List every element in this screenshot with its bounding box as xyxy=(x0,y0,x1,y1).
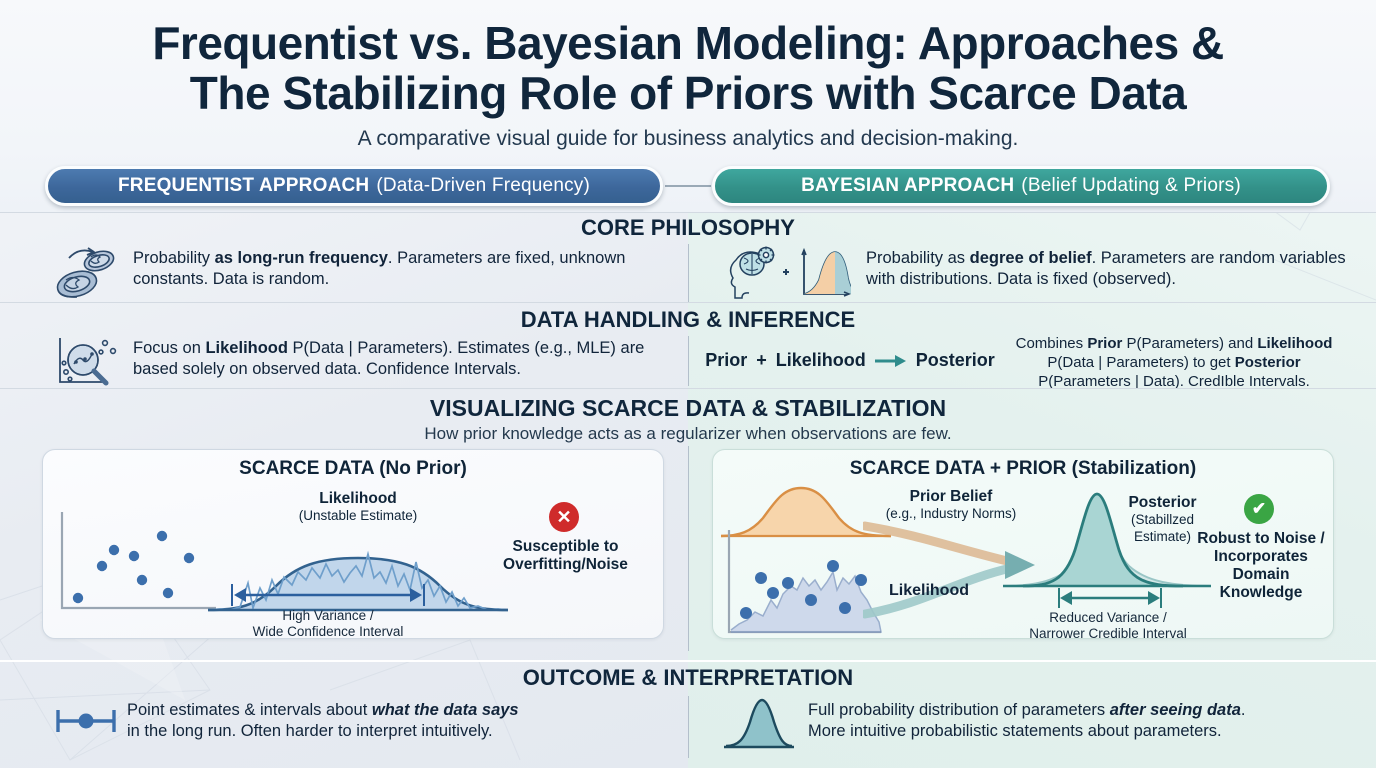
oc-r1-c: . xyxy=(1241,701,1246,719)
coins-flip-icon xyxy=(50,244,126,304)
core-philosophy-left-text: Probability as long-run frequency. Param… xyxy=(133,248,678,290)
bayes-formula: Prior + Likelihood Posterior xyxy=(700,350,1000,371)
section-data-handling: DATA HANDLING & INFERENCE xyxy=(0,304,1376,388)
formula-posterior: Posterior xyxy=(916,350,995,371)
error-cross-icon: ✕ xyxy=(549,502,579,532)
page-title-line-2: The Stabilizing Role of Priors with Scar… xyxy=(0,68,1376,118)
scarce-data-no-prior-card: SCARCE DATA (No Prior) Likelihood (Unsta… xyxy=(42,449,664,639)
magnifier-scatter-icon xyxy=(52,334,124,394)
core-philosophy-right-text: Probability as degree of belief. Paramet… xyxy=(866,248,1366,290)
dh-r1-a: Combines xyxy=(1016,335,1088,352)
dh-left-part-2: Likelihood xyxy=(205,339,288,357)
brain-plus-distribution-icon xyxy=(726,244,851,302)
right-likelihood-label: Likelihood xyxy=(889,582,969,600)
scarce-scatter-left-chart xyxy=(56,508,226,618)
pill-connector-line xyxy=(665,185,711,187)
outcome-column-divider xyxy=(688,696,689,758)
approach-pill-row: FREQUENTIST APPROACH (Data-Driven Freque… xyxy=(0,166,1376,206)
bayesian-pill-qualifier: (Belief Updating & Priors) xyxy=(1021,175,1241,197)
oc-l1-b: what the data says xyxy=(372,701,519,719)
confidence-interval-icon xyxy=(50,704,122,738)
page-subtitle: A comparative visual guide for business … xyxy=(0,127,1376,151)
page-title-line-1: Frequentist vs. Bayesian Modeling: Appro… xyxy=(152,17,1223,69)
section-outcome: OUTCOME & INTERPRETATION Point estimates… xyxy=(0,660,1376,768)
cp-right-part-2: degree of belief xyxy=(970,249,1092,267)
posterior-label: Posterior xyxy=(1128,494,1196,511)
outcome-right-line-2: More intuitive probabilistic statements … xyxy=(808,721,1368,742)
prior-belief-label: Prior Belief xyxy=(910,488,993,505)
page-header: Frequentist vs. Bayesian Modeling: Appro… xyxy=(0,0,1376,151)
outcome-heading: OUTCOME & INTERPRETATION xyxy=(0,660,1376,690)
data-handling-right-text: Combines Prior P(Parameters) and Likelih… xyxy=(988,334,1360,391)
dh-r1-b: Prior xyxy=(1087,335,1122,352)
left-card-title: SCARCE DATA (No Prior) xyxy=(43,458,663,480)
success-check-icon: ✔ xyxy=(1244,494,1274,524)
cp-left-part-2: as long-run frequency xyxy=(215,249,388,267)
posterior-sublabel-line-1: (Stabillzed xyxy=(1105,511,1220,528)
visualizing-heading: VISUALIZING SCARCE DATA & STABILIZATION xyxy=(0,388,1376,421)
left-interval-caption: High Variance / Wide Confidence Interval xyxy=(208,608,448,640)
outcome-left-line-1: Point estimates & intervals about what t… xyxy=(127,700,677,721)
dh-right-line-2: P(Data | Parameters) to get Posterior xyxy=(988,353,1360,372)
dh-right-line-1: Combines Prior P(Parameters) and Likelih… xyxy=(988,334,1360,353)
data-handling-left-text: Focus on Likelihood P(Data | Parameters)… xyxy=(133,338,678,380)
visualizing-divider-top xyxy=(0,388,1376,389)
infographic-page: Frequentist vs. Bayesian Modeling: Appro… xyxy=(0,0,1376,768)
oc-l1-a: Point estimates & intervals about xyxy=(127,701,372,719)
left-verdict-caption: Susceptible to Overfitting/Noise xyxy=(483,538,648,574)
reduced-variance-interval-arrow xyxy=(1055,586,1165,610)
right-verdict-line-1: Robust to Noise / xyxy=(1191,530,1331,548)
section-divider-top xyxy=(0,212,1376,213)
right-verdict-line-4: Knowledge xyxy=(1191,584,1331,602)
outcome-right-line-1: Full probability distribution of paramet… xyxy=(808,700,1368,721)
right-interval-line-2: Narrower Credible Interval xyxy=(993,626,1223,642)
bayesian-approach-pill[interactable]: BAYESIAN APPROACH (Belief Updating & Pri… xyxy=(712,166,1330,206)
right-interval-line-1: Reduced Variance / xyxy=(993,610,1223,626)
dh-r1-d: Likelihood xyxy=(1257,335,1332,352)
visualizing-column-divider xyxy=(688,446,689,651)
core-philosophy-heading: CORE PHILOSOPHY xyxy=(0,216,1376,240)
section-core-philosophy: CORE PHILOSOPHY Probability as long-ru xyxy=(0,216,1376,304)
right-verdict-line-3: Domain xyxy=(1191,566,1331,584)
left-curve-sublabel: (Unstable Estimate) xyxy=(248,507,468,524)
outcome-left-line-2: in the long run. Often harder to interpr… xyxy=(127,721,677,742)
posterior-bell-icon xyxy=(722,696,794,752)
formula-prior: Prior xyxy=(705,350,747,371)
left-verdict-line-2: Overfitting/Noise xyxy=(483,556,648,574)
left-curve-caption: Likelihood (Unstable Estimate) xyxy=(248,490,468,524)
arrow-right-icon xyxy=(875,354,907,368)
cp-left-part-1: Probability xyxy=(133,249,215,267)
dh-left-part-1: Focus on xyxy=(133,339,205,357)
left-interval-line-2: Wide Confidence Interval xyxy=(208,624,448,640)
right-verdict-line-2: Incorporates xyxy=(1191,548,1331,566)
high-variance-interval-arrow xyxy=(228,582,428,608)
data-handling-heading: DATA HANDLING & INFERENCE xyxy=(0,304,1376,332)
oc-r1-a: Full probability distribution of paramet… xyxy=(808,701,1110,719)
outcome-right-text: Full probability distribution of paramet… xyxy=(808,700,1368,742)
dh-r1-c: P(Parameters) and xyxy=(1122,335,1257,352)
outcome-divider-top xyxy=(0,660,1376,662)
page-title: Frequentist vs. Bayesian Modeling: Appro… xyxy=(0,0,1376,118)
visualizing-subheading: How prior knowledge acts as a regularize… xyxy=(0,421,1376,444)
oc-r1-b: after seeing data xyxy=(1110,701,1241,719)
left-verdict-line-1: Susceptible to xyxy=(483,538,648,556)
core-philosophy-column-divider xyxy=(688,244,689,302)
right-verdict-caption: Robust to Noise / Incorporates Domain Kn… xyxy=(1191,530,1331,602)
cp-right-part-1: Probability as xyxy=(866,249,970,267)
bayesian-pill-name: BAYESIAN APPROACH xyxy=(801,175,1014,197)
outcome-left-text: Point estimates & intervals about what t… xyxy=(127,700,677,742)
frequentist-approach-pill[interactable]: FREQUENTIST APPROACH (Data-Driven Freque… xyxy=(45,166,663,206)
frequentist-pill-name: FREQUENTIST APPROACH xyxy=(118,175,369,197)
formula-likelihood: Likelihood xyxy=(776,350,866,371)
dh-r2-b: Posterior xyxy=(1235,354,1301,371)
frequentist-pill-qualifier: (Data-Driven Frequency) xyxy=(376,175,590,197)
section-visualizing: VISUALIZING SCARCE DATA & STABILIZATION … xyxy=(0,388,1376,660)
left-curve-label: Likelihood xyxy=(319,490,397,507)
dh-r2-a: P(Data | Parameters) to get xyxy=(1047,354,1234,371)
data-handling-divider-top xyxy=(0,302,1376,303)
right-card-title: SCARCE DATA + PRIOR (Stabilization) xyxy=(713,458,1333,480)
data-handling-column-divider xyxy=(688,336,689,386)
right-interval-caption: Reduced Variance / Narrower Credible Int… xyxy=(993,610,1223,642)
left-interval-line-1: High Variance / xyxy=(208,608,448,624)
scarce-data-with-prior-card: SCARCE DATA + PRIOR (Stabilization) Prio… xyxy=(712,449,1334,639)
formula-plus: + xyxy=(756,350,767,371)
